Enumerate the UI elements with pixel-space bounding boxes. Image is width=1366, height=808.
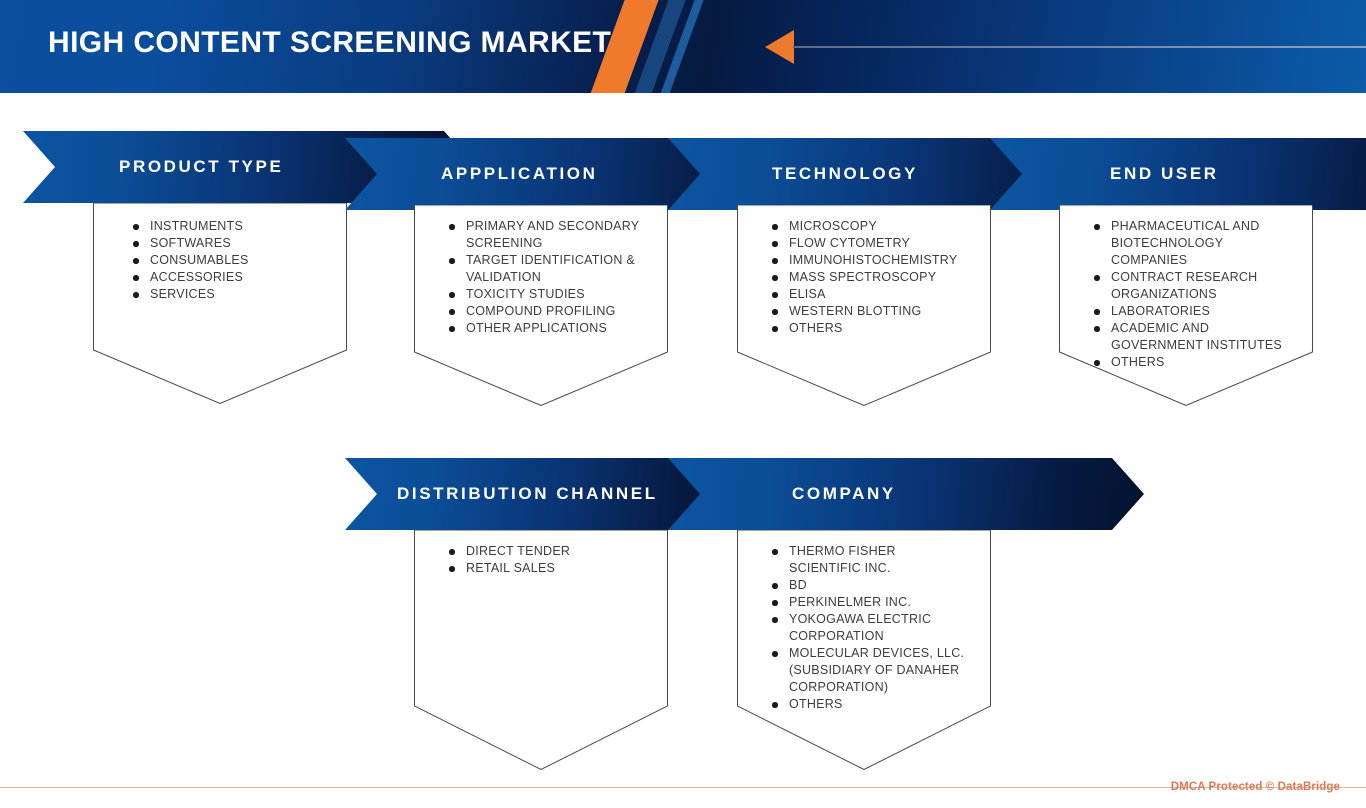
segment-item-list: INSTRUMENTS SOFTWARES CONSUMABLES ACCESS… <box>131 218 341 303</box>
list-item: IMMUNOHISTOCHEMISTRY <box>770 252 975 269</box>
list-item: SOFTWARES <box>131 235 341 252</box>
list-item: SERVICES <box>131 286 341 303</box>
list-item: OTHER APPLICATIONS <box>447 320 647 337</box>
segment-item-list: PHARMACEUTICAL AND BIOTECHNOLOGY COMPANI… <box>1092 218 1302 371</box>
list-item: CONTRACT RESEARCH ORGANIZATIONS <box>1092 269 1302 303</box>
list-item: ACCESSORIES <box>131 269 341 286</box>
segment-banner-label: APPPLICATION <box>441 164 598 184</box>
segment-box-product-type: INSTRUMENTS SOFTWARES CONSUMABLES ACCESS… <box>93 203 347 404</box>
list-item: PRIMARY AND SECONDARY SCREENING <box>447 218 647 252</box>
list-item: TARGET IDENTIFICATION & VALIDATION <box>447 252 647 286</box>
list-item: COMPOUND PROFILING <box>447 303 647 320</box>
list-item: ELISA <box>770 286 975 303</box>
segment-banner-end-user[interactable]: END USER <box>990 138 1366 210</box>
list-item: MOLECULAR DEVICES, LLC. (SUBSIDIARY OF D… <box>770 645 970 696</box>
list-item: PERKINELMER INC. <box>770 594 970 611</box>
segment-box-application: PRIMARY AND SECONDARY SCREENING TARGET I… <box>414 205 668 406</box>
list-item: OTHERS <box>770 696 970 713</box>
list-item: OTHERS <box>1092 354 1302 371</box>
list-item: FLOW CYTOMETRY <box>770 235 975 252</box>
segment-box-end-user: PHARMACEUTICAL AND BIOTECHNOLOGY COMPANI… <box>1059 205 1313 406</box>
list-item: DIRECT TENDER <box>447 543 647 560</box>
segment-banner-company[interactable]: COMPANY <box>668 458 1144 530</box>
list-item: INSTRUMENTS <box>131 218 341 235</box>
segment-item-list: DIRECT TENDER RETAIL SALES <box>447 543 647 577</box>
footer-copyright: DMCA Protected © DataBridge <box>1171 781 1340 793</box>
list-item: TOXICITY STUDIES <box>447 286 647 303</box>
list-item: LABORATORIES <box>1092 303 1302 320</box>
left-arrow-icon <box>765 30 794 64</box>
segment-item-list: MICROSCOPY FLOW CYTOMETRY IMMUNOHISTOCHE… <box>770 218 975 337</box>
list-item: PHARMACEUTICAL AND BIOTECHNOLOGY COMPANI… <box>1092 218 1302 269</box>
arrow-line <box>793 46 1366 48</box>
page-title: HIGH CONTENT SCREENING MARKET <box>48 26 611 60</box>
segment-box-company: THERMO FISHER SCIENTIFIC INC. BD PERKINE… <box>737 530 991 770</box>
list-item: ACADEMIC AND GOVERNMENT INSTITUTES <box>1092 320 1302 354</box>
list-item: WESTERN BLOTTING <box>770 303 975 320</box>
segment-item-list: PRIMARY AND SECONDARY SCREENING TARGET I… <box>447 218 647 337</box>
segment-banner-label: PRODUCT TYPE <box>119 157 283 177</box>
page-header: HIGH CONTENT SCREENING MARKET <box>0 0 1366 93</box>
segment-box-distribution-channel: DIRECT TENDER RETAIL SALES <box>414 530 668 770</box>
list-item: BD <box>770 577 970 594</box>
list-item: OTHERS <box>770 320 975 337</box>
list-item: THERMO FISHER SCIENTIFIC INC. <box>770 543 970 577</box>
list-item: RETAIL SALES <box>447 560 647 577</box>
segment-banner-label: TECHNOLOGY <box>772 164 918 184</box>
segment-banner-label: END USER <box>1110 164 1219 184</box>
list-item: CONSUMABLES <box>131 252 341 269</box>
segment-box-technology: MICROSCOPY FLOW CYTOMETRY IMMUNOHISTOCHE… <box>737 205 991 406</box>
segment-item-list: THERMO FISHER SCIENTIFIC INC. BD PERKINE… <box>770 543 970 713</box>
list-item: MICROSCOPY <box>770 218 975 235</box>
list-item: MASS SPECTROSCOPY <box>770 269 975 286</box>
segment-banner-label: COMPANY <box>792 484 896 504</box>
segment-banner-label: DISTRIBUTION CHANNEL <box>397 484 658 504</box>
footer-divider <box>0 787 1366 788</box>
list-item: YOKOGAWA ELECTRIC CORPORATION <box>770 611 970 645</box>
